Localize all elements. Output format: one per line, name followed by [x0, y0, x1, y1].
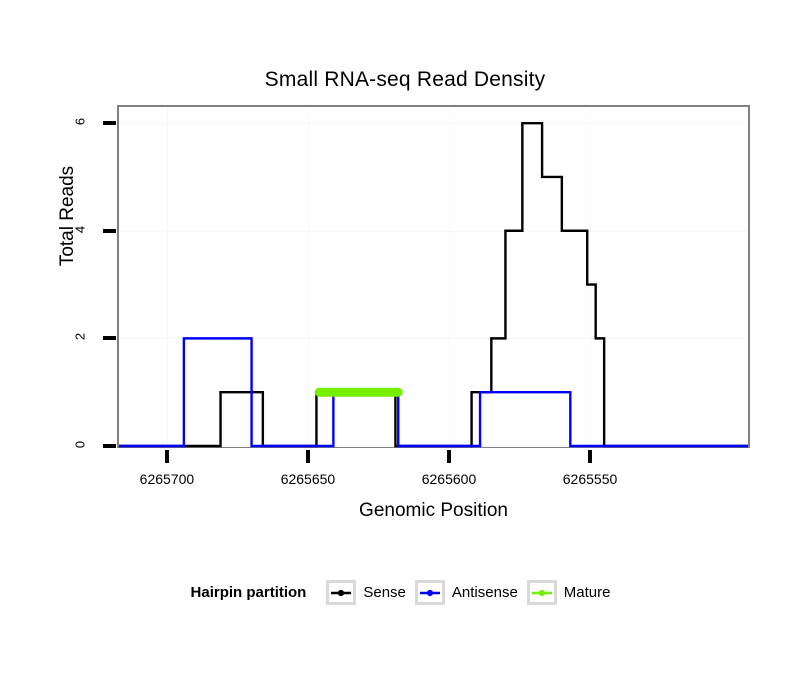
- x-tick-label: 6265700: [112, 471, 222, 487]
- x-tick-label: 6265650: [253, 471, 363, 487]
- x-tick-label: 6265550: [535, 471, 645, 487]
- legend-label-mature: Mature: [564, 584, 611, 601]
- legend-item-sense[interactable]: Sense: [326, 580, 415, 605]
- x-tick-label: 6265600: [394, 471, 504, 487]
- legend-item-antisense[interactable]: Antisense: [415, 580, 527, 605]
- legend-item-mature[interactable]: Mature: [527, 580, 620, 605]
- x-tick-mark: [447, 450, 451, 463]
- legend-key-antisense-icon: [415, 580, 445, 605]
- legend: Hairpin partition SenseAntisenseMature: [0, 580, 810, 605]
- chart-title: Small RNA-seq Read Density: [0, 68, 810, 92]
- x-tick-mark: [165, 450, 169, 463]
- y-tick-mark: [103, 229, 116, 233]
- x-axis-label: Genomic Position: [117, 500, 750, 522]
- y-tick-label: 6: [73, 107, 88, 137]
- y-tick-label: 2: [73, 322, 88, 352]
- data-series-layer: [119, 107, 748, 446]
- plot-area: [117, 105, 750, 448]
- x-tick-mark: [306, 450, 310, 463]
- y-tick-mark: [103, 121, 116, 125]
- legend-label-antisense: Antisense: [452, 584, 518, 601]
- x-tick-mark: [588, 450, 592, 463]
- y-tick-mark: [103, 336, 116, 340]
- chart-canvas: Small RNA-seq Read Density Total Reads 0…: [0, 0, 810, 690]
- legend-title: Hairpin partition: [191, 584, 307, 601]
- y-tick-label: 4: [73, 214, 88, 244]
- y-tick-label: 0: [73, 430, 88, 460]
- legend-key-sense-icon: [326, 580, 356, 605]
- legend-key-mature-icon: [527, 580, 557, 605]
- legend-entries: SenseAntisenseMature: [326, 580, 619, 605]
- series-line-antisense: [119, 338, 748, 446]
- legend-label-sense: Sense: [363, 584, 406, 601]
- y-tick-mark: [103, 444, 116, 448]
- series-line-sense: [119, 123, 748, 446]
